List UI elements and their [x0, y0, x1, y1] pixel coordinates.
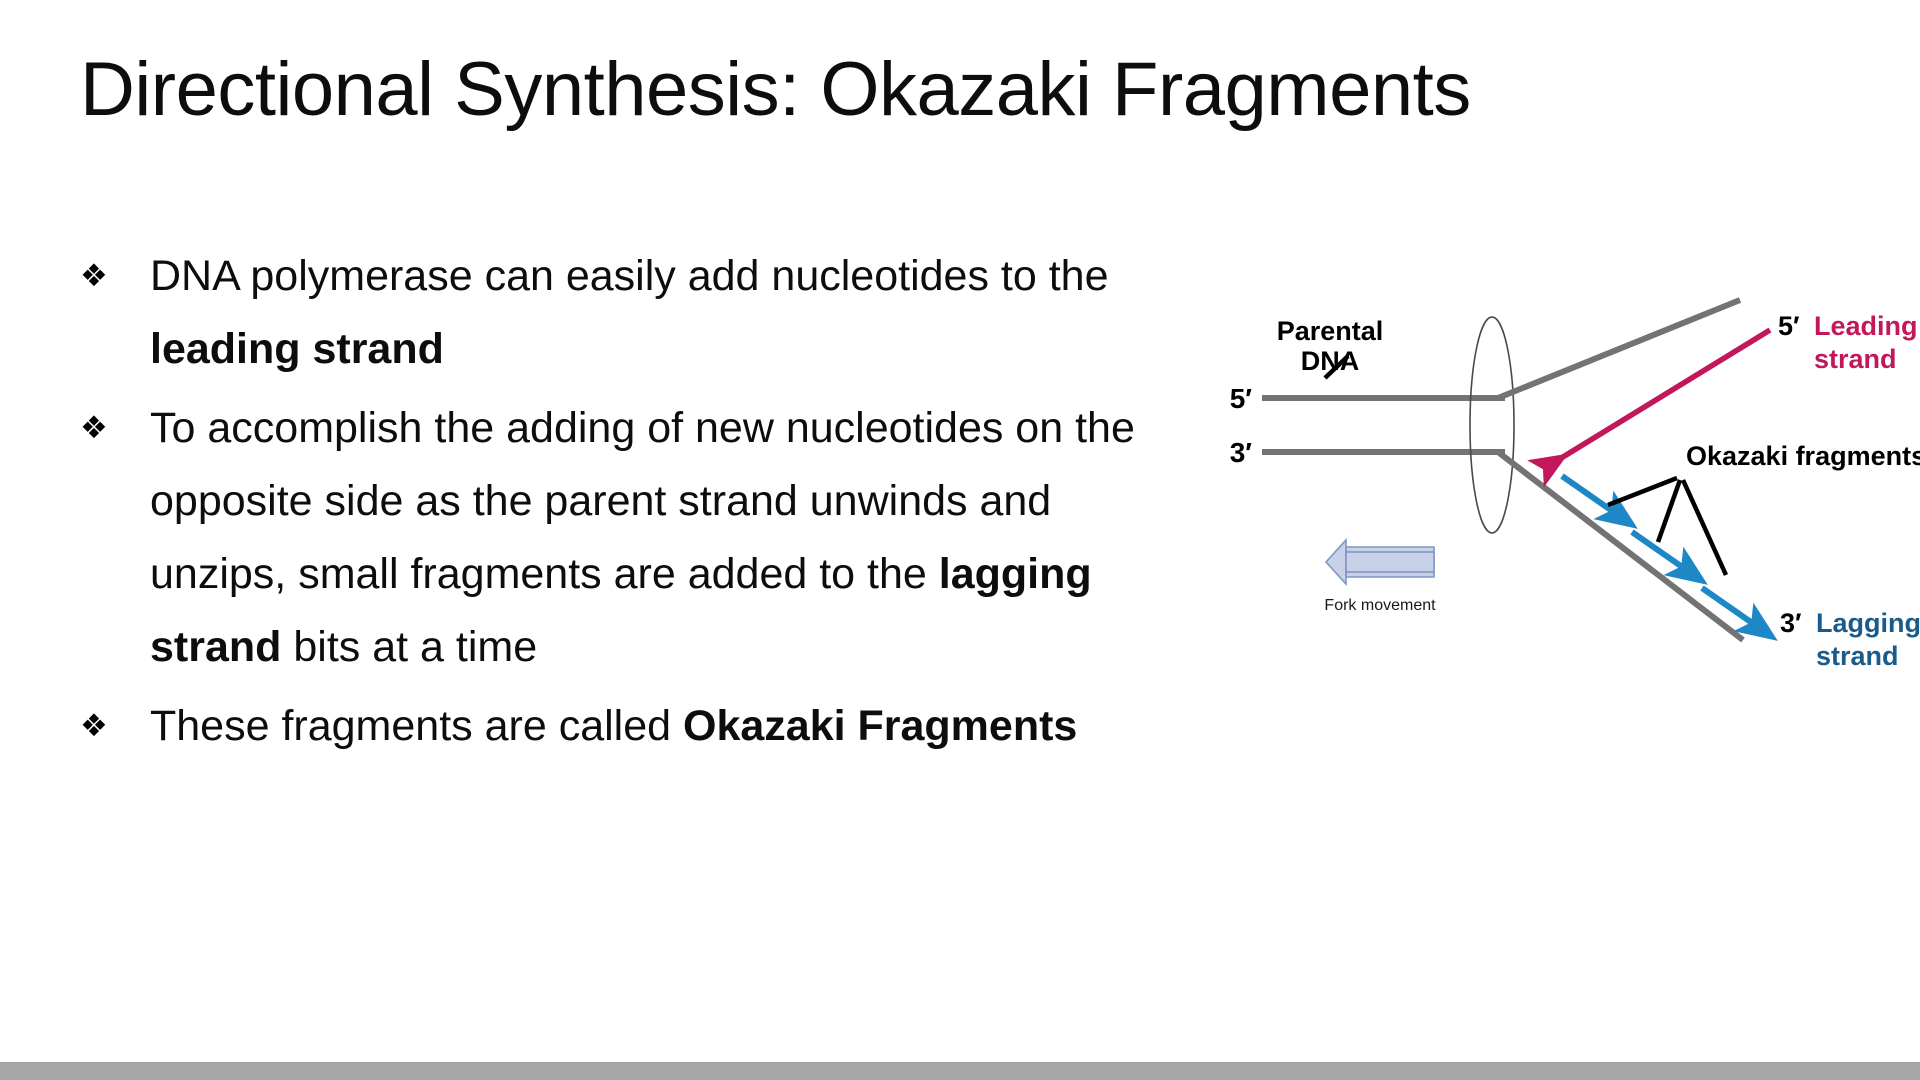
leading-strand-prime-label: 5′ [1778, 311, 1800, 341]
page-title: Directional Synthesis: Okazaki Fragments [80, 48, 1780, 132]
list-item-text-plain: These fragments are called [150, 702, 683, 750]
okazaki-pointer-lines [1608, 478, 1726, 575]
replication-fork-diagram: Parental DNA 5′ 3′ 5′ Leading strand Oka… [1180, 300, 1920, 660]
list-item-text-strong: leading strand [150, 325, 444, 373]
okazaki-pointer-3 [1683, 480, 1726, 575]
fork-movement-label: Fork movement [1324, 597, 1436, 614]
lagging-strand-label-line1: Lagging [1816, 608, 1920, 638]
okazaki-arrow-3 [1702, 588, 1768, 634]
leading-strand-label-line2: strand [1814, 344, 1897, 374]
bullet-diamond-icon: ❖ [72, 690, 150, 763]
template-strand-upper [1498, 300, 1740, 398]
lagging-strand-label-line2: strand [1816, 641, 1899, 671]
bullet-diamond-icon: ❖ [72, 392, 150, 465]
helicase-ellipse-icon [1470, 317, 1514, 533]
fork-movement-arrow-icon [1326, 540, 1434, 584]
footer-bar [0, 1062, 1920, 1080]
list-item-text: These fragments are called Okazaki Fragm… [150, 690, 1162, 763]
okazaki-pointer-1 [1608, 478, 1677, 505]
list-item-text-plain: DNA polymerase can easily add nucleotide… [150, 252, 1109, 300]
template-strand-lower [1498, 452, 1743, 640]
parental-dna-label-line2: DNA [1301, 346, 1360, 376]
parental-dna-strands [1262, 398, 1505, 452]
okazaki-arrow-2 [1632, 532, 1698, 578]
list-item: ❖ These fragments are called Okazaki Fra… [72, 690, 1162, 763]
list-item-text: DNA polymerase can easily add nucleotide… [150, 240, 1162, 386]
five-prime-top-label: 5′ [1230, 383, 1253, 414]
slide-canvas: Directional Synthesis: Okazaki Fragments… [0, 0, 1920, 1080]
leading-strand-label-line1: Leading [1814, 311, 1918, 341]
list-item: ❖ To accomplish the adding of new nucleo… [72, 392, 1162, 684]
bullet-diamond-icon: ❖ [72, 240, 150, 313]
list-item-text: To accomplish the adding of new nucleoti… [150, 392, 1162, 684]
okazaki-pointer-2 [1658, 480, 1680, 542]
lagging-strand-prime-label: 3′ [1780, 608, 1802, 638]
three-prime-bottom-label: 3′ [1230, 437, 1253, 468]
bullet-list: ❖ DNA polymerase can easily add nucleoti… [72, 240, 1162, 769]
list-item-text-strong: Okazaki Fragments [683, 702, 1077, 750]
parental-dna-label-line1: Parental [1277, 316, 1384, 346]
list-item-text-plain-tail: bits at a time [281, 623, 537, 671]
list-item: ❖ DNA polymerase can easily add nucleoti… [72, 240, 1162, 386]
okazaki-fragments-label: Okazaki fragments [1686, 441, 1920, 471]
okazaki-fragment-arrows [1562, 476, 1768, 634]
